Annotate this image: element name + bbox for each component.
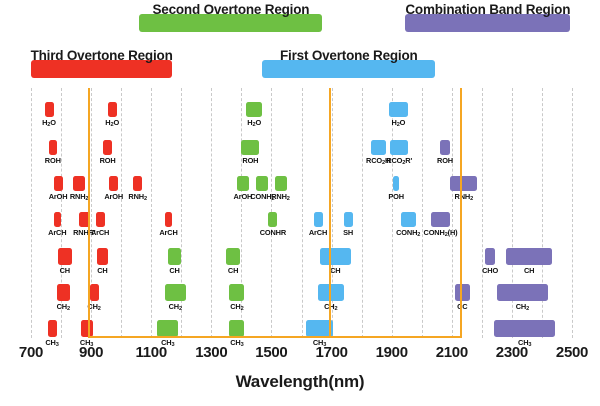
gridline-1300 [211,88,213,338]
gridline-1600 [302,88,304,338]
band-bar [314,212,323,227]
band-label: RNH2 [70,192,89,201]
band-bar [54,212,62,227]
band-bar [109,176,118,191]
band-label: CONHR [260,228,286,237]
band-bar [81,320,93,337]
x-tick-1500: 1500 [255,344,287,361]
band-bar [241,140,259,155]
x-tick-2500: 2500 [556,344,588,361]
band-label: ROH [100,156,116,165]
x-tick-900: 900 [79,344,103,361]
band-label: CH2 [169,302,182,311]
band-label: CC [457,302,467,311]
band-label: ROH [45,156,61,165]
band-label: CH2 [87,302,100,311]
band-label: CH [330,266,340,275]
band-bar [237,176,249,191]
band-label: CONH2 [396,228,420,237]
x-axis-ticks: 70090011001300150017001900210023002500 [0,344,600,368]
band-bar [485,248,496,265]
band-bar [389,102,409,117]
band-bar [431,212,451,227]
band-bar [49,140,57,155]
band-bar [96,212,105,227]
gridline-2100 [452,88,454,338]
band-bar [450,176,477,191]
band-label: POH [388,192,404,201]
band-bar [440,140,451,155]
band-bar [165,284,186,301]
highlight-box-divider [329,88,332,338]
band-label: CH [169,266,179,275]
band-bar [45,102,54,117]
gridline-1000 [121,88,123,338]
band-label: CH2 [516,302,529,311]
band-bar [344,212,353,227]
band-bar [246,102,263,117]
region-label-3: Combination Band Region [405,2,570,17]
band-label: RNH2 [455,192,474,201]
gridline-1800 [362,88,364,338]
band-bar [108,102,117,117]
region-label-1: Second Overtone Region [152,2,309,17]
band-bar [90,284,99,301]
band-bar [103,140,112,155]
gridline-2500 [572,88,574,338]
band-label: ROH [437,156,453,165]
band-label: H2O [105,118,119,127]
band-label: ArOH [49,192,68,201]
band-label: H2O [392,118,406,127]
band-bar [229,320,244,337]
region-label-0: Third Overtone Region [31,48,173,63]
band-bar [506,248,553,265]
band-label: H2O [42,118,56,127]
band-bar [268,212,277,227]
band-label: RNH2 [128,192,147,201]
x-tick-2300: 2300 [496,344,528,361]
band-label: CH [524,266,534,275]
band-label: ROH [242,156,258,165]
band-bar [97,248,108,265]
gridline-2200 [482,88,484,338]
gridline-700 [31,88,33,338]
region-label-2: First Overtone Region [280,48,418,63]
band-bar [58,248,72,265]
plot-area: H2OH2OH2OH2OROHROHROHRCO2HRCO2R'ROHArOHR… [0,88,600,338]
band-label: ArCH [91,228,109,237]
band-bar [48,320,57,337]
band-bar [79,212,90,227]
band-bar [393,176,399,191]
band-label: ArCH [159,228,177,237]
band-bar [133,176,142,191]
band-bar [494,320,556,337]
band-label: RCO2R' [386,156,412,165]
band-label: CH2 [57,302,70,311]
band-label: ArOH [104,192,123,201]
x-tick-1700: 1700 [316,344,348,361]
band-bar [54,176,63,191]
band-bar [371,140,386,155]
x-tick-1100: 1100 [136,344,167,361]
gridline-1100 [151,88,153,338]
band-bar [57,284,71,301]
band-label: CH [228,266,238,275]
band-label: ArCH [309,228,327,237]
band-label: CH [60,266,70,275]
x-tick-700: 700 [19,344,43,361]
band-bar [226,248,240,265]
band-label: ArCH [48,228,66,237]
band-bar [229,284,244,301]
x-tick-1300: 1300 [195,344,227,361]
band-bar [390,140,408,155]
band-label: CH2 [230,302,243,311]
band-bar [73,176,85,191]
band-bar [256,176,268,191]
band-bar [275,176,287,191]
band-bar [455,284,470,301]
band-label: CH [97,266,107,275]
band-bar [168,248,182,265]
gridline-2000 [422,88,424,338]
x-tick-1900: 1900 [376,344,408,361]
band-label: CHO [482,266,498,275]
nir-band-chart: Third Overtone RegionSecond Overtone Reg… [0,0,600,406]
band-bar [165,212,173,227]
band-label: CONH2(H) [424,228,458,237]
band-label: SH [343,228,353,237]
band-label: RNH2 [271,192,290,201]
band-bar [320,248,352,265]
x-axis-title: Wavelength(nm) [0,372,600,392]
band-bar [157,320,178,337]
band-bar [401,212,416,227]
band-bar [497,284,548,301]
band-label: H2O [247,118,261,127]
x-tick-2100: 2100 [436,344,468,361]
